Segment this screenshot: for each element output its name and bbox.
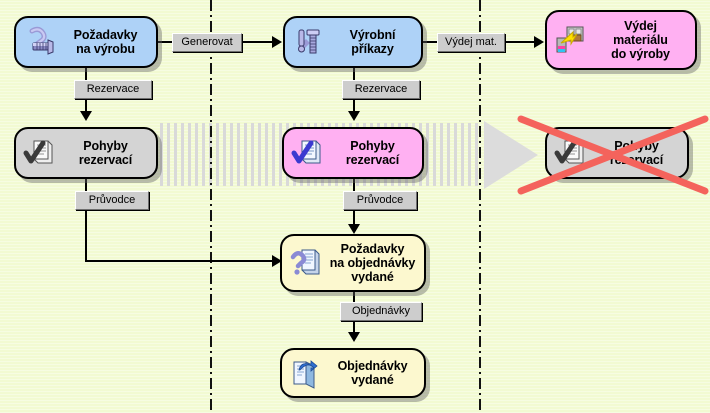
connector-line-pruvodce1-drop <box>85 210 87 262</box>
connector-line-pruvodce2-top <box>353 179 355 191</box>
checkmark-document-icon <box>551 134 589 172</box>
checkmark-document-icon <box>20 134 58 172</box>
node-objednavky-vydane[interactable]: Objednávky vydané <box>280 348 426 398</box>
node-label: Výrobní příkazy <box>329 28 421 56</box>
node-vydej-materialu-do-vyroby[interactable]: Výdej materiálu do výroby <box>545 10 697 70</box>
node-pohyby-rezervaci-right[interactable]: Pohyby rezervací <box>545 127 689 179</box>
bolt-screw-icon <box>289 23 327 61</box>
connector-label-generovat[interactable]: Generovat <box>172 33 242 52</box>
arrowhead-to-vydej-materialu <box>534 36 544 48</box>
node-label: Výdej materiálu do výroby <box>591 19 695 61</box>
lane-divider-1 <box>210 0 212 413</box>
node-vyrobni-prikazy[interactable]: Výrobní příkazy <box>283 16 423 68</box>
connector-label-vydej-mat[interactable]: Výdej mat. <box>437 33 505 52</box>
arrowhead-to-pozadavky-objednavky-top <box>348 224 360 234</box>
node-pohyby-rezervaci-left[interactable]: Pohyby rezervací <box>14 127 158 179</box>
connector-line-pruvodce1-top <box>85 179 87 191</box>
connector-line-objednavky-top <box>353 292 355 302</box>
flow-chevron-shape <box>484 121 538 189</box>
document-arrow-icon <box>286 354 324 392</box>
node-label: Požadavky na výrobu <box>60 28 156 56</box>
connector-line-rez1-top <box>85 68 87 80</box>
lane-divider-2 <box>479 0 481 413</box>
connector-line-generovat-out <box>243 41 275 43</box>
connector-line-generovat-in <box>158 41 172 43</box>
question-mark-bolt-icon <box>20 23 58 61</box>
checkmark-document-icon <box>288 134 326 172</box>
connector-line-vydej-out <box>506 41 536 43</box>
node-label: Pohyby rezervací <box>60 139 156 167</box>
connector-label-rezervace-1[interactable]: Rezervace <box>74 80 152 99</box>
arrowhead-to-pohyby-middle <box>348 111 360 121</box>
node-label: Objednávky vydané <box>326 359 424 387</box>
node-pohyby-rezervaci-middle[interactable]: Pohyby rezervací <box>282 127 424 179</box>
connector-label-pruvodce-2[interactable]: Průvodce <box>343 191 417 210</box>
question-mark-document-icon <box>286 244 324 282</box>
connector-line-rez2-top <box>353 68 355 80</box>
connector-line-vydej-in <box>423 41 437 43</box>
connector-label-pruvodce-1[interactable]: Průvodce <box>75 191 149 210</box>
node-label: Požadavky na objednávky vydané <box>326 242 424 284</box>
arrowhead-to-objednavky-vydane <box>348 332 360 342</box>
node-label: Pohyby rezervací <box>591 139 687 167</box>
connector-label-objednavky[interactable]: Objednávky <box>340 302 422 321</box>
arrowhead-to-pohyby-left <box>80 111 92 121</box>
node-label: Pohyby rezervací <box>328 139 422 167</box>
process-diagram-canvas: Požadavky na výrobu Generovat <box>0 0 710 413</box>
warehouse-forklift-icon <box>551 21 589 59</box>
connector-label-rezervace-2[interactable]: Rezervace <box>342 80 420 99</box>
connector-line-pruvodce1-across <box>85 260 275 262</box>
arrowhead-to-vyrobni-prikazy <box>272 36 282 48</box>
node-pozadavky-na-vyrobu[interactable]: Požadavky na výrobu <box>14 16 158 68</box>
node-pozadavky-na-objednavky-vydane[interactable]: Požadavky na objednávky vydané <box>280 234 426 292</box>
